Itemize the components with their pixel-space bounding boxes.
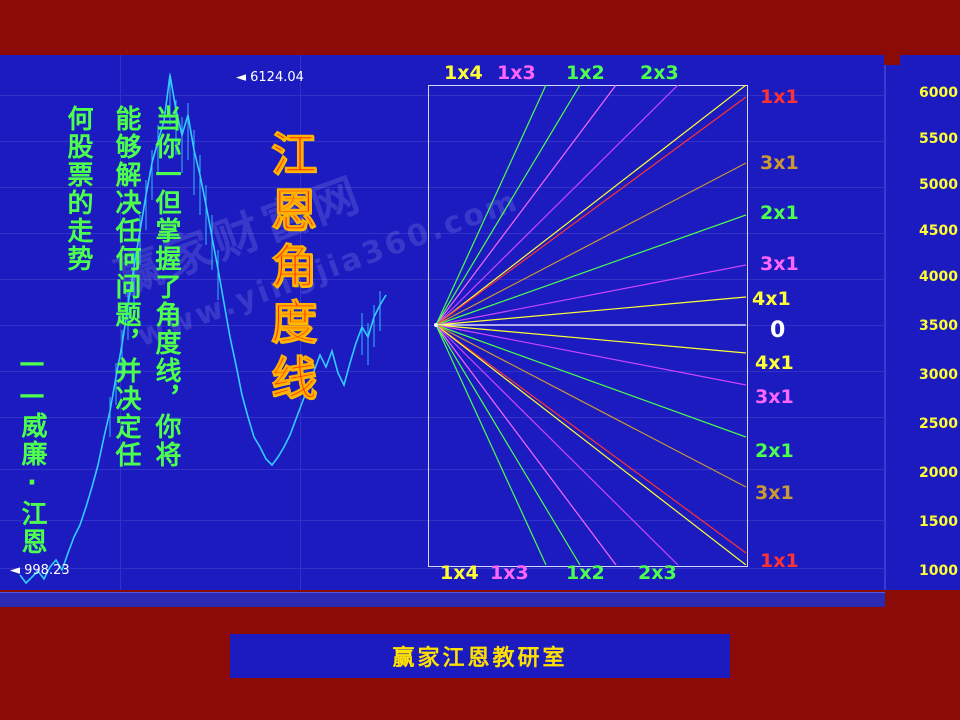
footer-banner-text: 赢家江恩教研室 xyxy=(392,640,567,672)
price-annotation-low: ◄ 998.23 xyxy=(10,563,70,578)
gann-label-right-3x1-c: 3x1 xyxy=(755,386,794,408)
price-tick: 4000 xyxy=(908,269,958,285)
gann-label-right-3x1-d: 3x1 xyxy=(755,482,794,504)
gann-fan-lines xyxy=(428,85,746,565)
quote-column-3: 何股票的走势 xyxy=(60,105,97,273)
slide-root: 赢家财富网 www.yingjia360.com xyxy=(0,0,960,720)
price-tick: 1000 xyxy=(908,563,958,579)
page-title: 江恩角度线 xyxy=(258,130,324,410)
footer-banner: 赢家江恩教研室 xyxy=(230,634,730,678)
price-tick: 3500 xyxy=(908,318,958,334)
panel-divider xyxy=(884,55,886,590)
price-tick: 2500 xyxy=(908,416,958,432)
panel-corner-marker xyxy=(884,55,900,65)
gann-label-top-1x4: 1x4 xyxy=(444,62,483,84)
gann-label-right-3x1-b: 3x1 xyxy=(760,253,799,275)
price-tick: 4500 xyxy=(908,223,958,239)
price-annotation-high: ◄ 6124.04 xyxy=(236,70,304,85)
gann-label-right-2x1-a: 2x1 xyxy=(760,202,799,224)
gann-label-bottom-2x3: 2x3 xyxy=(638,562,677,584)
gann-label-right-4x1-a: 4x1 xyxy=(752,288,791,310)
gann-label-bottom-1x4: 1x4 xyxy=(440,562,479,584)
price-tick: 1500 xyxy=(908,514,958,530)
price-tick: 3000 xyxy=(908,367,958,383)
gann-label-bottom-1x2: 1x2 xyxy=(566,562,605,584)
gann-label-right-4x1-b: 4x1 xyxy=(755,352,794,374)
price-tick: 5000 xyxy=(908,177,958,193)
quote-column-1: 当你一但掌握了角度线，你将 xyxy=(148,105,185,469)
quote-column-2: 能够解决任何问题，并决定任 xyxy=(108,105,145,469)
gann-label-right-2x1-b: 2x1 xyxy=(755,440,794,462)
gann-label-center-0: 0 xyxy=(770,318,785,343)
gann-label-right-3x1-a: 3x1 xyxy=(760,152,799,174)
price-axis: 6000 5500 5000 4500 4000 3500 3000 2500 … xyxy=(905,55,960,590)
price-tick: 5500 xyxy=(908,131,958,147)
chart-scrollbar[interactable] xyxy=(0,592,885,607)
gann-label-top-2x3: 2x3 xyxy=(640,62,679,84)
gann-label-top-1x2: 1x2 xyxy=(566,62,605,84)
gann-label-top-1x3: 1x3 xyxy=(497,62,536,84)
quote-attribution: ——威廉·江恩 xyxy=(14,348,51,556)
gann-label-right-1x1-bottom: 1x1 xyxy=(760,550,799,572)
gann-label-bottom-1x3: 1x3 xyxy=(490,562,529,584)
price-tick: 6000 xyxy=(908,85,958,101)
gann-label-right-1x1-top: 1x1 xyxy=(760,86,799,108)
price-tick: 2000 xyxy=(908,465,958,481)
